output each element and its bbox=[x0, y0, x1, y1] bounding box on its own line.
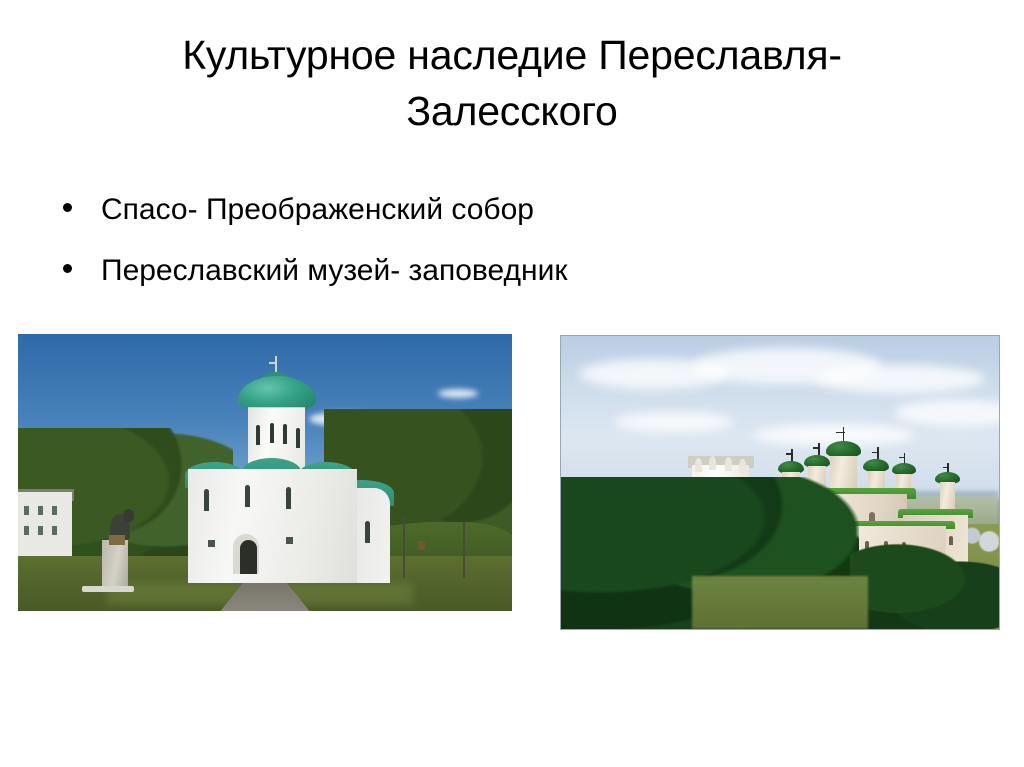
cyclist bbox=[418, 541, 425, 550]
pereslavsky-museum-reserve-photo bbox=[560, 335, 1000, 630]
cross-icon bbox=[899, 457, 905, 459]
cathedral-body bbox=[188, 469, 358, 584]
presentation-slide: Культурное наследие Переславля- Залесско… bbox=[0, 0, 1024, 767]
cross-icon bbox=[836, 432, 845, 434]
cloud bbox=[614, 412, 734, 432]
cross-icon bbox=[813, 447, 820, 449]
monument-pedestal bbox=[102, 540, 128, 586]
cross-icon bbox=[943, 467, 948, 469]
forest-right bbox=[850, 541, 1000, 630]
bullet-list: Спасо- Преображенский собор Переславский… bbox=[55, 190, 955, 312]
cross-icon bbox=[843, 427, 845, 442]
list-item: Спасо- Преображенский собор bbox=[55, 190, 955, 229]
bullet-text: Спасо- Преображенский собор bbox=[101, 193, 534, 226]
spaso-preobrazhensky-cathedral-photo bbox=[18, 334, 512, 611]
cross-icon bbox=[269, 362, 277, 364]
monument-base bbox=[82, 586, 134, 592]
fence-pole bbox=[403, 517, 405, 578]
bullet-dot-icon bbox=[63, 203, 72, 212]
fence-pole bbox=[463, 522, 465, 577]
slide-title: Культурное наследие Переславля- Залесско… bbox=[70, 28, 954, 140]
foreground-grass bbox=[692, 576, 867, 629]
bullet-dot-icon bbox=[63, 264, 72, 273]
drum bbox=[940, 482, 955, 508]
bullet-text: Переславский музей- заповедник bbox=[101, 254, 567, 287]
monument-bust-head bbox=[123, 509, 134, 522]
cross-icon bbox=[872, 452, 879, 454]
cross-icon bbox=[786, 453, 793, 455]
cathedral bbox=[181, 367, 398, 583]
side-building bbox=[18, 492, 72, 564]
entrance-door bbox=[240, 540, 257, 574]
monument-plaque bbox=[109, 535, 125, 545]
list-item: Переславский музей- заповедник bbox=[55, 251, 955, 290]
